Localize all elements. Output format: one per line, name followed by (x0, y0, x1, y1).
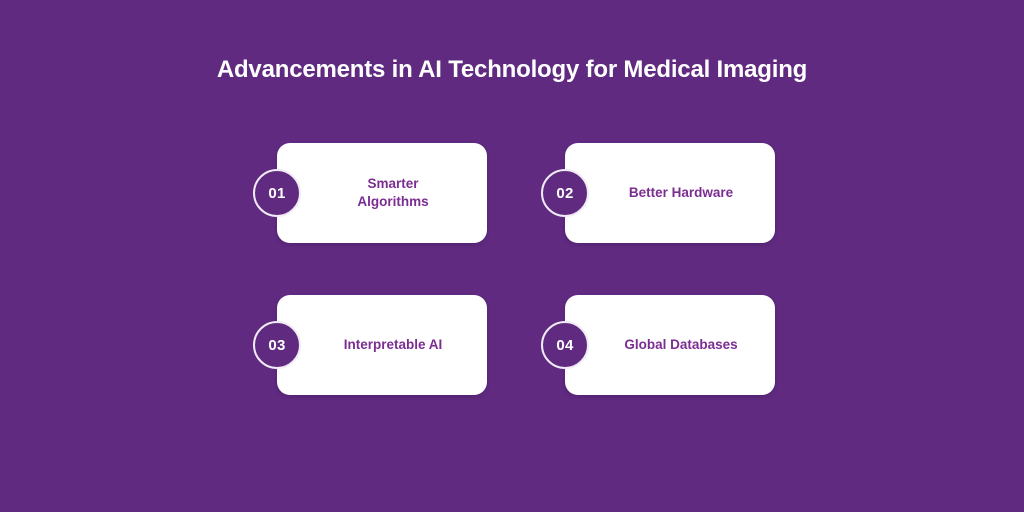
card-number-badge: 03 (253, 321, 301, 369)
feature-card-4[interactable]: 04 Global Databases (565, 295, 775, 395)
card-number-badge: 01 (253, 169, 301, 217)
page-title: Advancements in AI Technology for Medica… (0, 55, 1024, 85)
slide-canvas: Advancements in AI Technology for Medica… (0, 0, 1024, 512)
feature-card-3[interactable]: 03 Interpretable AI (277, 295, 487, 395)
card-label: SmarterAlgorithms (313, 143, 473, 243)
feature-card-1[interactable]: 01 SmarterAlgorithms (277, 143, 487, 243)
card-number-badge: 02 (541, 169, 589, 217)
card-label: Better Hardware (601, 143, 761, 243)
card-number-badge: 04 (541, 321, 589, 369)
card-label: Interpretable AI (313, 295, 473, 395)
feature-card-2[interactable]: 02 Better Hardware (565, 143, 775, 243)
card-label: Global Databases (601, 295, 761, 395)
